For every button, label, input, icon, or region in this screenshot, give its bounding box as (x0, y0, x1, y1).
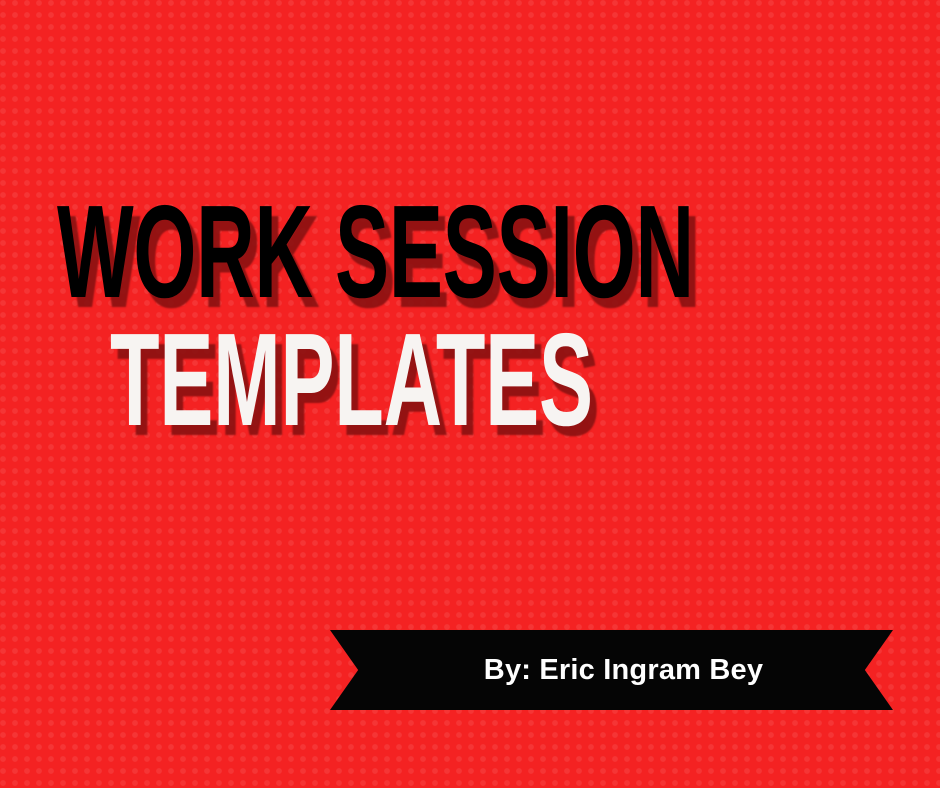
author-credit-text: By: Eric Ingram Bey (432, 656, 791, 685)
headline-line-primary: WORK SESSION (57, 186, 694, 318)
author-ribbon-banner: By: Eric Ingram Bey (330, 630, 893, 710)
headline-line-secondary: TEMPLATES (110, 314, 593, 446)
poster-canvas: WORK SESSION TEMPLATES By: Eric Ingram B… (0, 0, 940, 788)
